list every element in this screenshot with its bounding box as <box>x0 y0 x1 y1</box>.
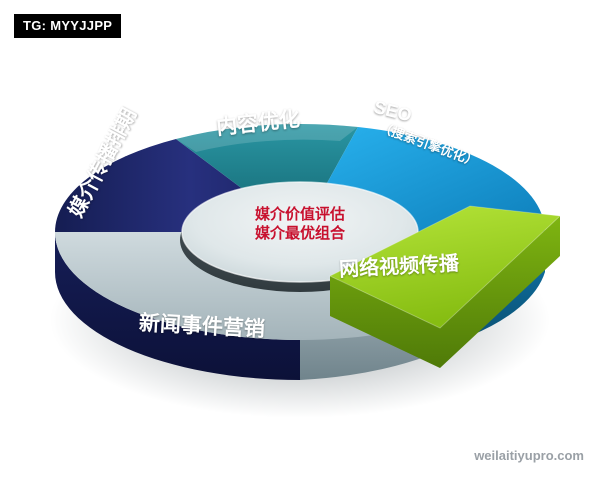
center-label: 媒介价值评估 媒介最优组合 <box>218 205 382 243</box>
center-label-line2: 媒介最优组合 <box>218 224 382 243</box>
screenshot-canvas: TG: MYYJJPP <box>0 0 600 480</box>
tag-badge: TG: MYYJJPP <box>14 14 121 38</box>
marketing-donut-diagram: 内容优化 SEO （搜索引擎优化） 媒介传播排期 新闻事件营销 网络视频传播 媒… <box>0 0 600 480</box>
watermark: weilaitiyupro.com <box>474 448 584 463</box>
center-label-line1: 媒介价值评估 <box>218 205 382 224</box>
